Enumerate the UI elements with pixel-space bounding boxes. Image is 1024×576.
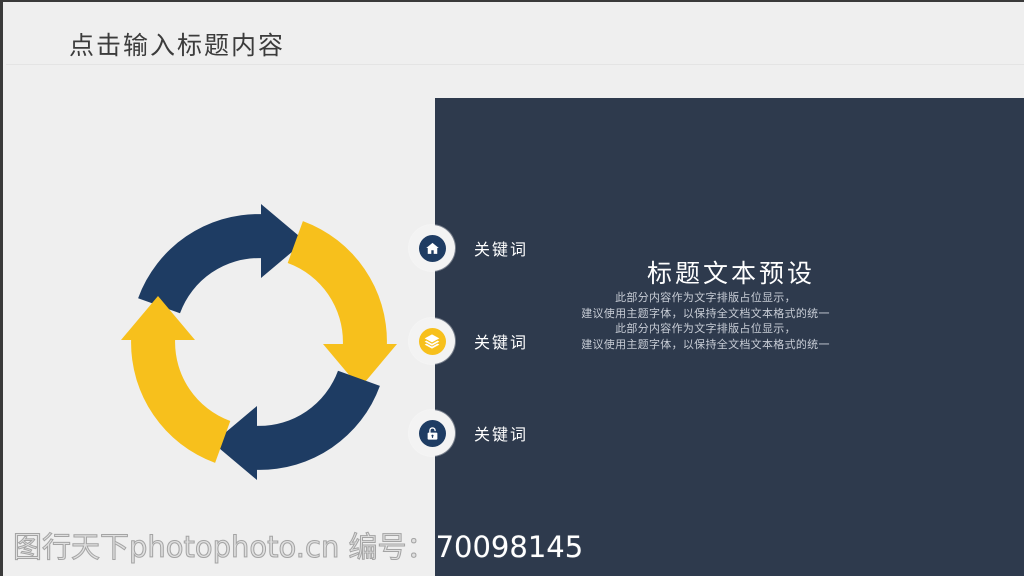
keyword-item-3[interactable]: 关键词 [409,410,528,456]
layers-icon [419,328,446,355]
page-title: 点击输入标题内容 [69,26,285,62]
panel-body-text: 此部分内容作为文字排版占位显示， 建议使用主题字体，以保持全文档文本格式的统一 … [563,290,848,352]
panel-body-line-4: 建议使用主题字体，以保持全文档文本格式的统一 [563,337,848,353]
four-arrow-cycle-diagram [115,198,403,486]
keyword-icon-badge-2 [409,318,455,364]
keyword-label-3: 关键词 [474,421,528,445]
panel-body-line-2: 建议使用主题字体，以保持全文档文本格式的统一 [563,306,848,322]
watermark-number: 70098145 [436,530,584,564]
keyword-icon-badge-3 [409,410,455,456]
watermark-site: 图行天下photophoto.cn [13,530,339,564]
watermark: 图行天下photophoto.cn 编号：70098145 [13,524,583,566]
cycle-segment-bottom-right [213,371,380,480]
header-divider [6,64,1024,65]
lock-icon [419,420,446,447]
watermark-label: 编号： [349,530,436,564]
keyword-label-2: 关键词 [474,329,528,353]
panel-body-line-1: 此部分内容作为文字排版占位显示， [563,290,848,306]
cycle-segment-bottom-left [121,296,230,463]
keyword-item-2[interactable]: 关键词 [409,318,528,364]
cycle-segment-top-left [138,204,305,313]
cycle-segment-top-right [288,221,397,388]
slide-canvas: 点击输入标题内容 [0,0,1024,576]
panel-body-line-3: 此部分内容作为文字排版占位显示， [563,321,848,337]
panel-heading: 标题文本预设 [435,254,1024,290]
